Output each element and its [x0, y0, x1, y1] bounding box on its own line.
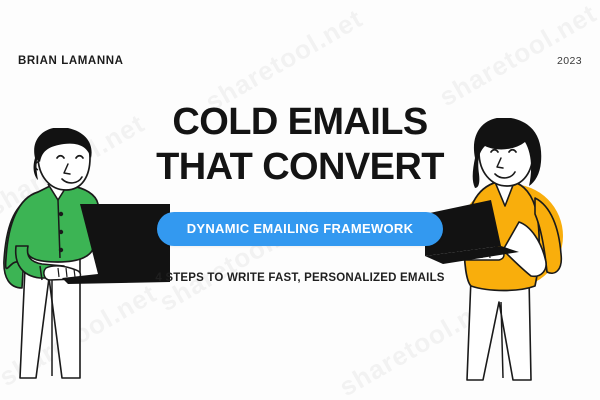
author-name: BRIAN LAMANNA	[18, 55, 124, 67]
page-title-line-2: THAT CONVERT	[0, 145, 600, 190]
year-label: 2023	[557, 55, 582, 67]
woman-trousers	[467, 278, 531, 380]
center-content-block: COLD EMAILS THAT CONVERT DYNAMIC EMAILIN…	[0, 100, 600, 284]
page-title-line-1: COLD EMAILS	[0, 100, 600, 145]
slide-canvas: sharetool.net sharetool.net sharetool.ne…	[0, 0, 600, 400]
page-subtitle: 4 STEPS TO WRITE FAST, PERSONALIZED EMAI…	[0, 272, 600, 284]
framework-badge[interactable]: DYNAMIC EMAILING FRAMEWORK	[157, 212, 444, 246]
